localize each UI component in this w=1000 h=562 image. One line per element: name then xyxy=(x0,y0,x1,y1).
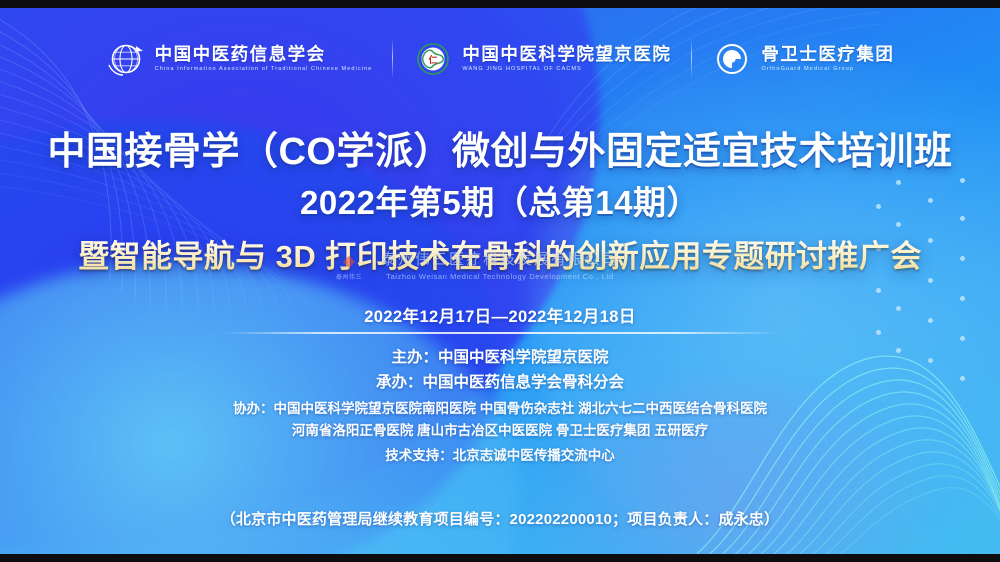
title-block: 中国接骨学（CO学派）微创与外固定适宜技术培训班 2022年第5期（总第14期）… xyxy=(0,126,1000,278)
spiral-target-icon xyxy=(712,39,752,79)
logo-text-wangjing-hospital: 中国中医科学院望京医院 WANG JING HOSPITAL OF CACMS xyxy=(462,45,671,72)
logo-name-en: OrthoGuard Medical Group xyxy=(761,67,894,73)
partner-logo-bar: 中国中医药信息学会 China Information Association … xyxy=(0,30,1000,88)
organizer-row-tech-support: 技术支持：北京志诚中医传播交流中心 xyxy=(0,445,1000,467)
svg-text:仁: 仁 xyxy=(429,54,438,66)
organizer-block: 主办：中国中医科学院望京医院 承办：中国中医药信息学会骨科分会 协办：中国中医科… xyxy=(0,345,1000,467)
conference-banner: 中国中医药信息学会 China Information Association … xyxy=(0,0,1000,562)
project-footnote: （北京市中医药管理局继续教育项目编号：202202200010；项目负责人：成永… xyxy=(0,508,1000,529)
date-range: 2022年12月17日—2022年12月18日 xyxy=(0,303,1000,327)
title-line-2: 2022年第5期（总第14期） xyxy=(0,180,1000,226)
logo-unit-wangjing-hospital: 仁 中国中医科学院望京医院 WANG JING HOSPITAL OF CACM… xyxy=(393,39,691,79)
logo-name-en: China Information Association of Traditi… xyxy=(155,67,373,73)
globe-icon xyxy=(106,39,146,79)
logo-name-en: WANG JING HOSPITAL OF CACMS xyxy=(462,67,671,73)
logo-text-cia-tcm: 中国中医药信息学会 China Information Association … xyxy=(155,45,373,72)
logo-name-cn: 中国中医科学院望京医院 xyxy=(462,45,671,63)
hospital-emblem-icon: 仁 xyxy=(413,39,453,79)
logo-text-orthoguard: 骨卫士医疗集团 OrthoGuard Medical Group xyxy=(761,45,894,72)
cyan-wash-right xyxy=(530,30,1000,562)
logo-name-cn: 骨卫士医疗集团 xyxy=(761,45,894,63)
logo-unit-cia-tcm: 中国中医药信息学会 China Information Association … xyxy=(86,39,393,79)
bottom-edge-bar xyxy=(0,554,1000,562)
logo-name-cn: 中国中医药信息学会 xyxy=(155,45,373,63)
organizer-row-coorg-2: 河南省洛阳正骨医院 唐山市古冶区中医医院 骨卫士医疗集团 五研医疗 xyxy=(0,420,1000,442)
top-edge-bar xyxy=(0,0,1000,8)
logo-unit-orthoguard: 骨卫士医疗集团 OrthoGuard Medical Group xyxy=(692,39,914,79)
section-divider xyxy=(222,332,778,334)
title-line-3: 暨智能导航与 3D 打印技术在骨科的创新应用专题研讨推广会 xyxy=(0,235,1000,278)
organizer-row-coorg-1: 协办：中国中医科学院望京医院南阳医院 中国骨伤杂志社 湖北六七二中西医结合骨科医… xyxy=(0,398,1000,420)
title-line-1: 中国接骨学（CO学派）微创与外固定适宜技术培训班 xyxy=(0,126,1000,178)
organizer-row-undertaker: 承办：中国中医药信息学会骨科分会 xyxy=(0,370,1000,395)
organizer-row-host: 主办：中国中医科学院望京医院 xyxy=(0,345,1000,370)
